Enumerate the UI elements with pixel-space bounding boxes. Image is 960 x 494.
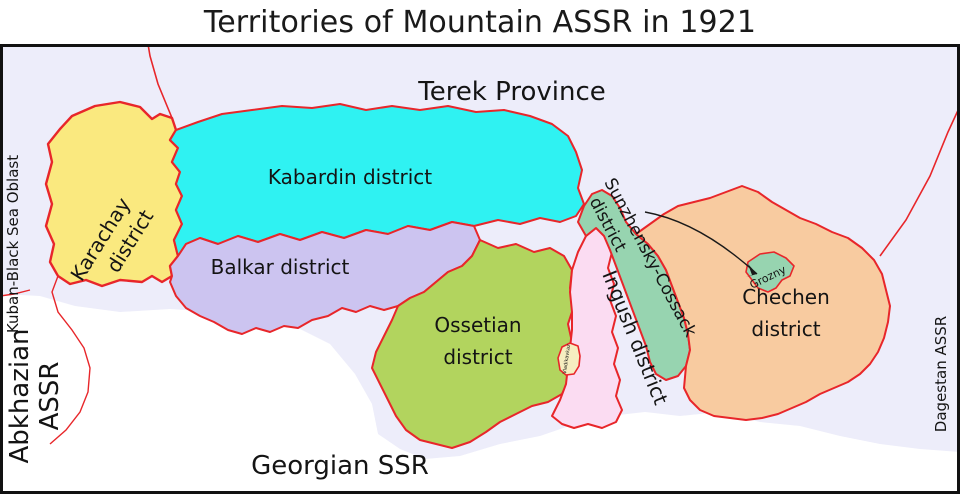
map-page: Territories of Mountain ASSR in 1921 — [0, 0, 960, 494]
label-kuban-black-sea-oblast: Kuban-Black Sea Oblast — [4, 155, 22, 333]
svg-text:ASSR: ASSR — [35, 362, 65, 431]
label-kabardin-district: Kabardin district — [268, 165, 432, 189]
page-title: Territories of Mountain ASSR in 1921 — [204, 5, 756, 40]
svg-text:Dagestan ASSR: Dagestan ASSR — [932, 316, 950, 432]
svg-text:district: district — [443, 345, 512, 369]
svg-text:Abkhazian: Abkhazian — [5, 328, 35, 463]
svg-text:Kuban-Black Sea Oblast: Kuban-Black Sea Oblast — [4, 155, 22, 333]
label-georgian-ssr: Georgian SSR — [251, 451, 429, 481]
page-title-bar: Territories of Mountain ASSR in 1921 — [0, 0, 960, 44]
label-balkar-district: Balkar district — [211, 255, 350, 279]
label-terek-province: Terek Province — [417, 77, 606, 107]
map-container: Terek Province Kabardin district Balkar … — [0, 44, 960, 494]
map-svg: Terek Province Kabardin district Balkar … — [0, 44, 960, 494]
label-dagestan-assr: Dagestan ASSR — [932, 316, 950, 432]
svg-text:district: district — [751, 317, 820, 341]
svg-text:Ossetian: Ossetian — [434, 313, 521, 337]
